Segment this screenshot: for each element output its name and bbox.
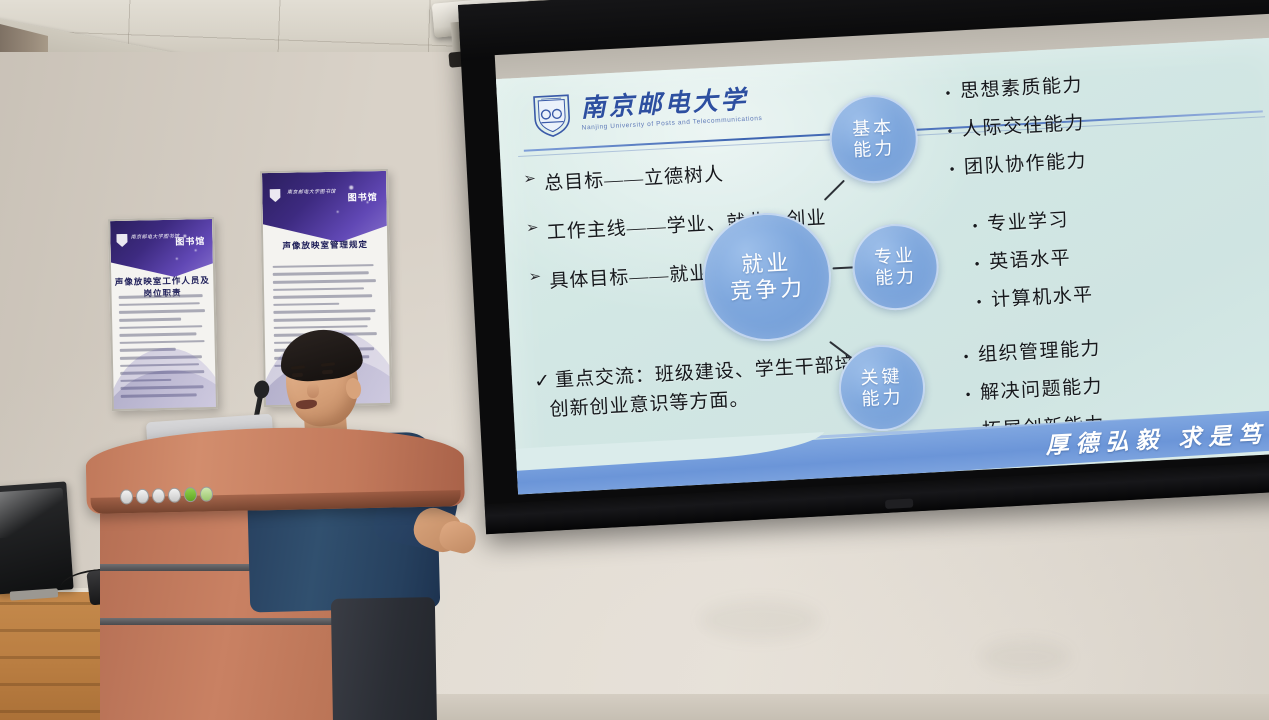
check-mark-icon: ✓	[534, 371, 552, 393]
poster-sparkle	[349, 185, 353, 189]
node-line1: 基本	[852, 117, 895, 140]
poster-sparkle	[176, 257, 178, 259]
footer-motto: 厚德弘毅 求是笃行	[1045, 413, 1269, 460]
slide-logo-row: 南京邮电大学 Nanjing University of Posts and T…	[531, 81, 763, 139]
bullet-dot-icon: •	[974, 257, 982, 274]
poster-title: 声像放映室管理规定	[263, 238, 387, 252]
bullet-dot-icon: •	[972, 219, 980, 236]
group-item-text: 解决问题能力	[979, 371, 1103, 405]
group-item-text: 组织管理能力	[977, 333, 1101, 367]
bullet-arrow-icon: ➢	[528, 267, 543, 289]
group-item: •思想素质能力	[945, 70, 1084, 104]
group-item-text: 英语水平	[988, 243, 1071, 274]
node-line2: 能力	[853, 138, 896, 161]
projector-screen: 南京邮电大学 Nanjing University of Posts and T…	[458, 0, 1269, 534]
node-line1: 专业	[873, 245, 916, 268]
node-line1: 关键	[860, 366, 903, 389]
group-item-text: 计算机水平	[990, 280, 1094, 312]
presenter	[250, 330, 480, 720]
presentation-slide: 南京邮电大学 Nanjing University of Posts and T…	[496, 37, 1269, 494]
group-item-text: 人际交往能力	[961, 108, 1085, 142]
group-item: •团队协作能力	[949, 146, 1088, 180]
group-item-text: 专业学习	[986, 205, 1069, 236]
group-item: •计算机水平	[976, 280, 1095, 313]
node-line2: 竞争力	[729, 275, 805, 305]
bullet-arrow-icon: ➢	[525, 218, 540, 240]
node-line2: 能力	[861, 387, 904, 410]
bullet-dot-icon: •	[963, 349, 971, 366]
group-item-text: 思想素质能力	[959, 70, 1083, 104]
wall-smudge	[980, 640, 1070, 674]
node-line2: 能力	[875, 266, 918, 289]
wall-poster-duties: 南京邮电大学图书馆 图书馆 声像放映室工作人员及岗位职责	[108, 217, 218, 411]
desktop-monitor	[0, 481, 74, 594]
podium-button-volume[interactable]	[152, 488, 166, 503]
check-note-line2: 创新创业意识等方面。	[549, 390, 750, 422]
group-item: •组织管理能力	[963, 333, 1102, 367]
bullet-text: 总目标——立德树人	[543, 159, 724, 196]
poster-library-label: 图书馆	[348, 190, 378, 204]
poster-university-line: 南京邮电大学图书馆	[131, 233, 180, 241]
shield-crest-icon	[531, 91, 573, 139]
podium-button-on[interactable]	[184, 487, 198, 502]
bullet-arrow-icon: ➢	[523, 169, 538, 191]
podium-button-screen[interactable]	[168, 487, 182, 502]
bullet-dot-icon: •	[945, 86, 953, 103]
monitor-screen-glare	[0, 488, 66, 539]
diagram-group-basic: •思想素质能力 •人际交往能力 •团队协作能力	[945, 70, 1089, 191]
podium-button-power[interactable]	[120, 489, 134, 504]
presenter-legs	[331, 597, 437, 720]
group-item: •人际交往能力	[947, 108, 1086, 142]
bullet-dot-icon: •	[976, 294, 984, 311]
group-item: •专业学习	[972, 204, 1091, 237]
presenter-nose	[307, 383, 319, 398]
lecture-room-photo: 南京邮电大学图书馆 图书馆 声像放映室工作人员及岗位职责 南京邮电大学图书馆 图…	[0, 0, 1269, 720]
node-line1: 就业	[741, 250, 792, 279]
poster-library-label: 图书馆	[175, 234, 205, 248]
presenter-eye	[292, 373, 303, 378]
poster-university-line: 南京邮电大学图书馆	[287, 188, 336, 196]
diagram-group-major: •专业学习 •英语水平 •计算机水平	[972, 204, 1095, 324]
poster-sparkle	[194, 249, 196, 251]
bullet-dot-icon: •	[947, 124, 955, 141]
bullet-dot-icon: •	[949, 162, 957, 179]
group-item: •解决问题能力	[965, 371, 1104, 405]
wall-smudge	[700, 600, 820, 640]
group-item: •英语水平	[974, 242, 1093, 275]
group-item-text: 团队协作能力	[963, 146, 1087, 180]
presenter-eye	[322, 370, 333, 375]
podium-button-source[interactable]	[136, 489, 150, 504]
bullet-dot-icon: •	[965, 387, 973, 404]
podium-button-off[interactable]	[200, 486, 214, 501]
